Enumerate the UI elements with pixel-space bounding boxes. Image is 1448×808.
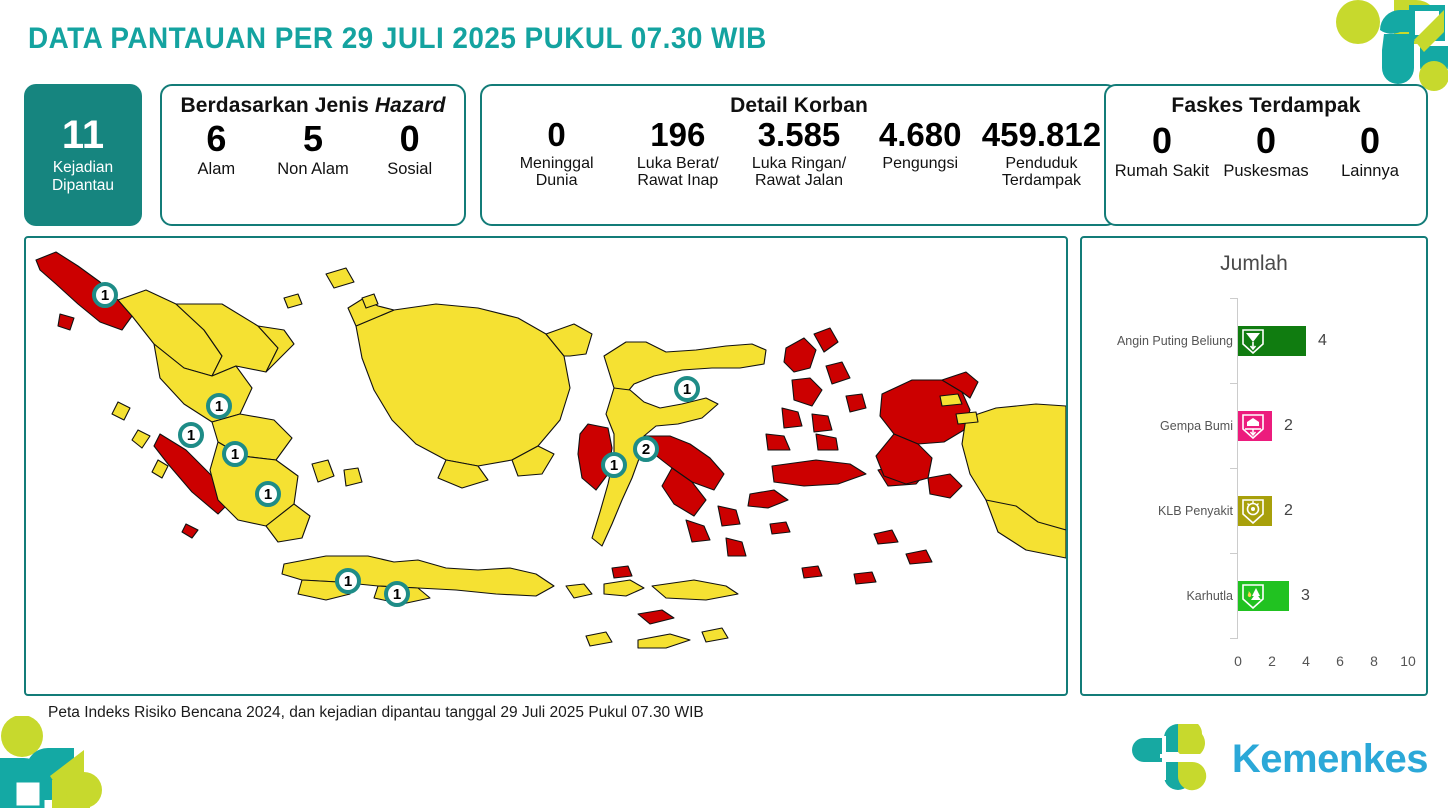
chart-xtick-8: 8: [1362, 653, 1386, 669]
korban-penduduk-value: 459.812: [981, 118, 1102, 153]
kemenkes-wordmark: Kemenkes: [1232, 737, 1428, 782]
faskes-puskesmas-value: 0: [1214, 122, 1318, 160]
faskes-rumah-sakit-label: Rumah Sakit: [1110, 162, 1214, 180]
chart-bar-value: 2: [1284, 502, 1293, 520]
korban-pengungsi-label: Pengungsi: [860, 155, 981, 173]
map-marker-count: 1: [344, 574, 352, 589]
hazard-card-title: Berdasarkan Jenis Hazard: [162, 94, 464, 118]
korban-meninggal-value: 0: [496, 118, 617, 153]
map-marker-count: 1: [215, 399, 223, 414]
map-marker[interactable]: 1: [384, 581, 410, 607]
map-marker-count: 1: [610, 458, 618, 473]
hazard-title-plain: Berdasarkan Jenis: [180, 94, 374, 117]
dashboard-root: DATA PANTAUAN PER 29 JULI 2025 PUKUL 07.…: [0, 0, 1448, 808]
korban-stat-luka-berat: 196 Luka Berat/ Rawat Inap: [617, 118, 738, 190]
hazard-alam-label: Alam: [168, 160, 265, 178]
chart-bar-value: 4: [1318, 332, 1327, 350]
map-marker-count: 1: [683, 382, 691, 397]
korban-penduduk-label2: Terdampak: [1002, 172, 1081, 189]
faskes-puskesmas-label: Puskesmas: [1214, 162, 1318, 180]
chart-tick: [1230, 553, 1238, 554]
map-marker[interactable]: 1: [92, 282, 118, 308]
badge-label-line2: Dipantau: [52, 177, 114, 194]
chart-xtick-2: 2: [1260, 653, 1284, 669]
chart-tick: [1230, 298, 1238, 299]
chart-title: Jumlah: [1082, 252, 1426, 276]
korban-card-title: Detail Korban: [482, 94, 1116, 118]
korban-luka-berat-value: 196: [617, 118, 738, 153]
hazard-sosial-value: 0: [361, 120, 458, 158]
chart-bar-label: KLB Penyakit: [1093, 504, 1233, 518]
chart-xtick-10: 10: [1396, 653, 1420, 669]
chart-xtick-6: 6: [1328, 653, 1352, 669]
map-marker-count: 1: [101, 288, 109, 303]
chart-tick: [1230, 383, 1238, 384]
map-marker[interactable]: 1: [335, 568, 361, 594]
faskes-card-title: Faskes Terdampak: [1106, 94, 1426, 118]
hazard-stat-non-alam: 5 Non Alam: [265, 120, 362, 178]
map-marker-count: 1: [264, 487, 272, 502]
chart-plot-area: Angin Puting Beliung 4: [1082, 290, 1430, 650]
map-marker-count: 2: [642, 442, 650, 457]
chart-bar-label: Gempa Bumi: [1093, 419, 1233, 433]
faskes-stat-puskesmas: 0 Puskesmas: [1214, 122, 1318, 180]
badge-label-line1: Kejadian: [53, 159, 113, 176]
faskes-stat-rumah-sakit: 0 Rumah Sakit: [1110, 122, 1214, 180]
korban-meninggal-label1: Meninggal: [520, 155, 594, 172]
faskes-lainnya-value: 0: [1318, 122, 1422, 160]
page-title: DATA PANTAUAN PER 29 JULI 2025 PUKUL 07.…: [28, 22, 767, 56]
chart-xtick-0: 0: [1226, 653, 1250, 669]
hazard-count-chart-panel: Jumlah Angin Puting Beliung: [1080, 236, 1428, 696]
hazard-title-emphasis: Hazard: [375, 94, 446, 117]
korban-luka-ringan-label2: Rawat Jalan: [755, 172, 843, 189]
korban-card: Detail Korban 0 Meninggal Dunia 196 Luka…: [480, 84, 1118, 226]
hazard-non-alam-value: 5: [265, 120, 362, 158]
chart-bar-row[interactable]: Karhutla 3: [1082, 579, 1430, 613]
forest-fire-icon: [1239, 582, 1267, 610]
decoration-top-right: [1336, 0, 1448, 92]
kejadian-dipantau-badge: 11 Kejadian Dipantau: [24, 84, 142, 226]
korban-luka-ringan-label1: Luka Ringan/: [752, 155, 846, 172]
chart-bar[interactable]: [1238, 581, 1289, 611]
korban-pengungsi-value: 4.680: [860, 118, 981, 153]
hazard-card: Berdasarkan Jenis Hazard 6 Alam 5 Non Al…: [160, 84, 466, 226]
chart-bar[interactable]: [1238, 411, 1272, 441]
hazard-alam-value: 6: [168, 120, 265, 158]
map-marker[interactable]: 1: [255, 481, 281, 507]
disease-outbreak-icon: [1239, 497, 1267, 525]
korban-luka-ringan-value: 3.585: [738, 118, 859, 153]
chart-bar-row[interactable]: Gempa Bumi 2: [1082, 409, 1430, 443]
indonesia-map: [26, 238, 1066, 694]
map-marker-count: 1: [187, 428, 195, 443]
footer-note: Peta Indeks Risiko Bencana 2024, dan kej…: [48, 704, 704, 722]
faskes-stat-lainnya: 0 Lainnya: [1318, 122, 1422, 180]
chart-bar-label: Karhutla: [1093, 589, 1233, 603]
chart-bar-value: 2: [1284, 417, 1293, 435]
korban-stat-penduduk: 459.812 Penduduk Terdampak: [981, 118, 1102, 190]
chart-x-axis: 0 2 4 6 8 10: [1082, 653, 1430, 679]
earthquake-icon: [1239, 412, 1267, 440]
chart-xtick-4: 4: [1294, 653, 1318, 669]
map-marker[interactable]: 1: [222, 441, 248, 467]
hazard-non-alam-label: Non Alam: [265, 160, 362, 178]
korban-luka-berat-label2: Rawat Inap: [637, 172, 718, 189]
kejadian-dipantau-label: Kejadian Dipantau: [52, 159, 114, 195]
hazard-sosial-label: Sosial: [361, 160, 458, 178]
hazard-stat-sosial: 0 Sosial: [361, 120, 458, 178]
faskes-rumah-sakit-value: 0: [1110, 122, 1214, 160]
map-marker-count: 1: [393, 587, 401, 602]
chart-bar-row[interactable]: Angin Puting Beliung 4: [1082, 324, 1430, 358]
kemenkes-mark-icon: [1124, 724, 1220, 794]
map-marker[interactable]: 1: [178, 422, 204, 448]
decoration-bottom-left: [0, 716, 120, 808]
tornado-icon: [1239, 327, 1267, 355]
chart-bar[interactable]: [1238, 496, 1272, 526]
korban-stat-pengungsi: 4.680 Pengungsi: [860, 118, 981, 172]
map-marker[interactable]: 1: [206, 393, 232, 419]
map-marker[interactable]: 1: [674, 376, 700, 402]
korban-stat-luka-ringan: 3.585 Luka Ringan/ Rawat Jalan: [738, 118, 859, 190]
faskes-lainnya-label: Lainnya: [1318, 162, 1422, 180]
hazard-stat-alam: 6 Alam: [168, 120, 265, 178]
korban-luka-berat-label1: Luka Berat/: [637, 155, 719, 172]
risk-map-panel[interactable]: 1 1 1 1 1 1 1 1 2 1: [24, 236, 1068, 696]
chart-bar[interactable]: [1238, 326, 1306, 356]
map-marker[interactable]: 2: [633, 436, 659, 462]
chart-bar-value: 3: [1301, 587, 1310, 605]
map-marker-count: 1: [231, 447, 239, 462]
faskes-card: Faskes Terdampak 0 Rumah Sakit 0 Puskesm…: [1104, 84, 1428, 226]
korban-meninggal-label2: Dunia: [536, 172, 578, 189]
chart-bar-label: Angin Puting Beliung: [1093, 334, 1233, 348]
summary-cards-row: 11 Kejadian Dipantau Berdasarkan Jenis H…: [24, 84, 1428, 226]
chart-bar-row[interactable]: KLB Penyakit 2: [1082, 494, 1430, 528]
map-marker[interactable]: 1: [601, 452, 627, 478]
kemenkes-logo: Kemenkes: [1124, 724, 1428, 794]
korban-penduduk-label1: Penduduk: [1005, 155, 1077, 172]
korban-stat-meninggal: 0 Meninggal Dunia: [496, 118, 617, 190]
kejadian-dipantau-value: 11: [62, 115, 104, 155]
chart-tick: [1230, 638, 1238, 639]
chart-tick: [1230, 468, 1238, 469]
